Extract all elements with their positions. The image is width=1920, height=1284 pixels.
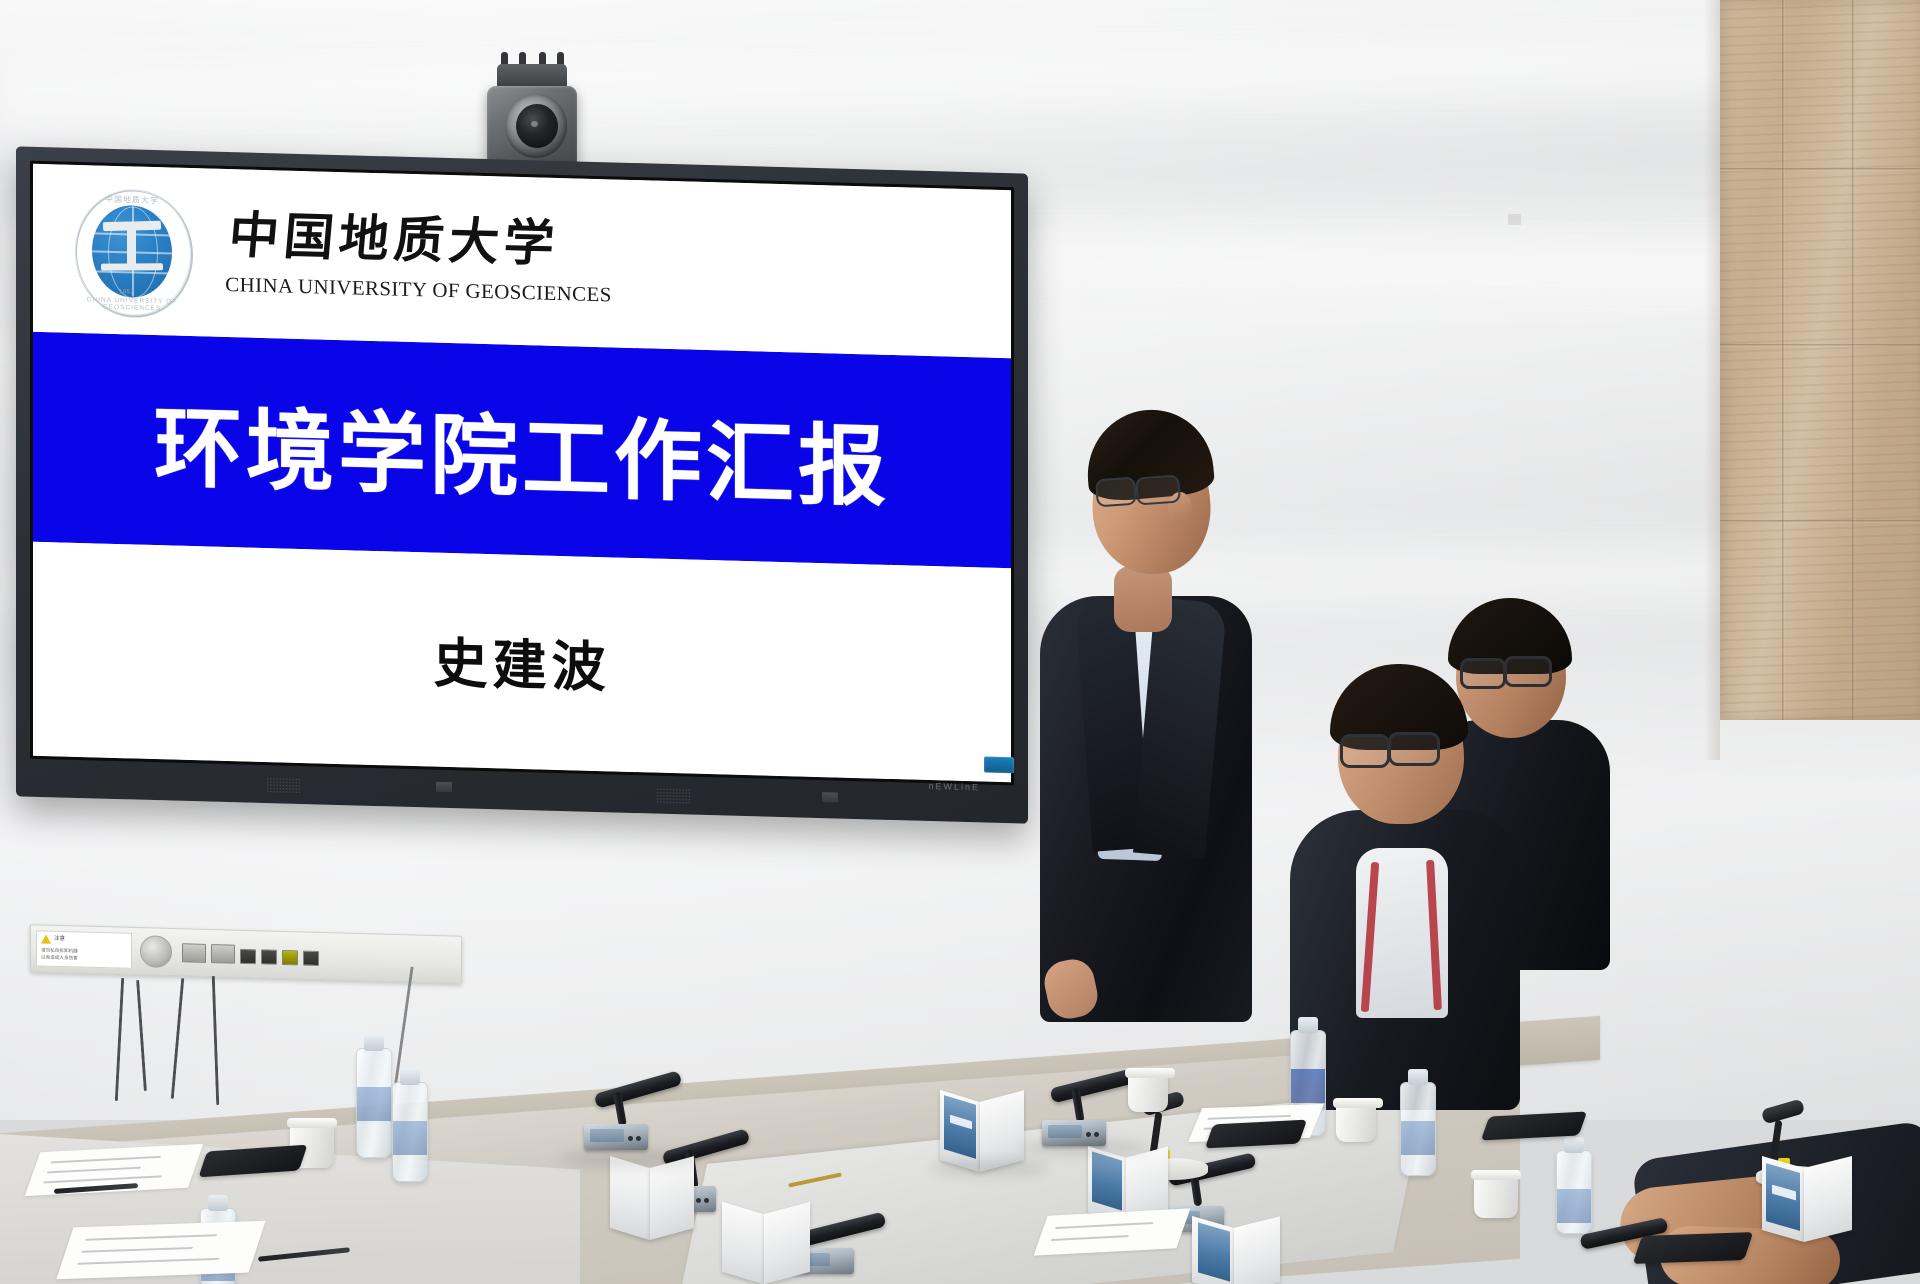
slide-title: 环境学院工作汇报 [154,377,890,524]
wall-mark [1508,214,1521,225]
warning-triangle-icon [41,934,51,943]
presenter-neck [1114,566,1172,632]
institution-name-en: CHINA UNIVERSITY OF GEOSCIENCES [225,274,612,307]
paper-cup [1336,1104,1376,1142]
presentation-slide: 中国地质大学 1952 [33,164,1011,782]
bezel-sensor [436,782,452,792]
interactive-display[interactable]: 中国地质大学 1952 [16,146,1028,823]
port-audio[interactable] [303,950,319,965]
power-button[interactable] [140,935,172,968]
wall-texture-wave [0,0,1920,158]
document-paper [1034,1208,1191,1255]
presenter-standing [1040,400,1270,1040]
attendee-front-glasses-right [1388,732,1440,766]
speaker-grille [656,788,690,805]
conference-room-photo: 中国地质大学 1952 [0,0,1920,1284]
water-bottle [1400,1082,1436,1176]
water-bottle [1556,1150,1592,1234]
paper-cup [1474,1176,1518,1218]
name-tent-card [722,1208,822,1284]
port-vga-2[interactable] [211,944,235,964]
conference-camera [483,62,581,172]
water-bottle [356,1048,392,1158]
warning-label: 注意 请勿私自拆卸机器以免造成人身伤害 [36,930,132,969]
camera-lens-ring [505,94,567,158]
logo-year: 1952 [119,289,134,295]
name-tent-card [940,1096,1036,1170]
warning-title: 注意 [54,935,65,944]
port-usb-b[interactable] [261,949,277,964]
port-hdmi[interactable] [282,949,298,964]
presenter-glasses-left-lens [1095,477,1137,508]
wood-wall-panel [1720,0,1920,720]
presenter-glasses-right-lens [1135,474,1181,505]
institution-name-cn: 中国地质大学 [227,209,611,272]
logo-hammer-icon [103,221,161,273]
slide-institution-block: 中国地质大学 CHINA UNIVERSITY OF GEOSCIENCES [229,209,608,307]
bezel-sensor [822,792,838,802]
logo-arc-bottom-text: CHINA UNIVERSITY OF GEOSCIENCES [83,296,181,313]
slide-header: 中国地质大学 1952 [33,164,1011,358]
slide-body: 史建波 [33,542,1011,782]
display-brand-label: nEWLinE [928,781,980,792]
name-tent-card [610,1162,706,1240]
attendee-seated-front [1290,660,1540,1130]
display-panel: 中国地质大学 1952 [30,161,1014,786]
slide-title-band: 环境学院工作汇报 [33,332,1011,568]
wall-corner-shadow [1704,0,1720,760]
attendee-front-shirt [1356,848,1448,1018]
paper-cup [1128,1074,1168,1112]
port-usb-a[interactable] [240,948,256,963]
speaker-grille [266,777,300,794]
smartphone [1633,1232,1754,1264]
document-paper [56,1221,265,1280]
university-logo-icon: 中国地质大学 1952 [75,184,193,317]
name-tent-card [1192,1222,1292,1284]
camera-body [487,86,577,170]
name-tent-card [1762,1162,1866,1242]
slide-presenter-name: 史建波 [434,619,611,703]
attendee-front-glasses-left [1340,734,1390,768]
water-bottle [392,1082,428,1182]
port-group[interactable] [182,943,319,966]
ir-receiver-icon [984,757,1014,774]
port-vga[interactable] [182,943,206,963]
